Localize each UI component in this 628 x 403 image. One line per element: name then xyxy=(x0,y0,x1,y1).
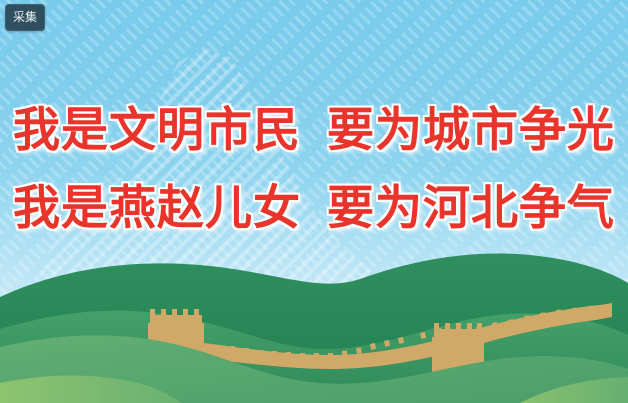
capture-button[interactable]: 采集 xyxy=(5,4,45,31)
hills-landscape xyxy=(0,243,628,403)
poster-image: 我是文明市民要为城市争光 我是燕赵儿女要为河北争气 xyxy=(0,0,628,403)
